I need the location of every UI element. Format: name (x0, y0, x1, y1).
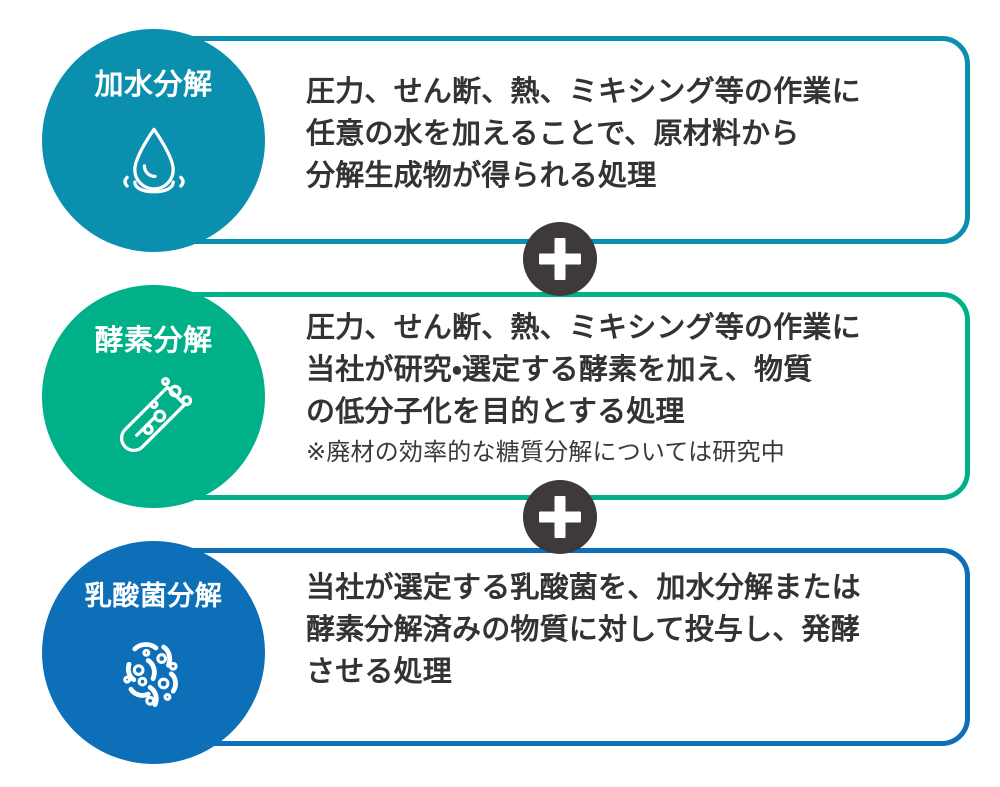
water-drop-icon (106, 114, 202, 210)
step-description-lactic: 当社が選定する乳酸菌を、加水分解または 酵素分解済みの物質に対して投与し、発酵 … (306, 568, 861, 693)
plus-connector-icon (523, 222, 597, 296)
test-tube-icon (106, 370, 202, 466)
description-line: させる処理 (306, 652, 861, 694)
step-description-enzyme: 圧力、せん断、熱、ミキシング等の作業に 当社が研究・選定する酵素を加え、物質 の… (306, 308, 861, 468)
step-badge-enzyme: 酵素分解 (42, 285, 265, 508)
description-line: 圧力、せん断、熱、ミキシング等の作業に (306, 72, 861, 114)
bacteria-icon (106, 624, 202, 720)
step-badge-label: 加水分解 (94, 71, 212, 100)
step-badge-hydrolysis: 加水分解 (42, 29, 265, 252)
step-badge-label: 酵素分解 (94, 327, 212, 356)
description-line: 分解生成物が得られる処理 (306, 156, 861, 198)
description-line: 当社が研究・選定する酵素を加え、物質 (306, 350, 861, 392)
description-line: 任意の水を加えることで、原材料から (306, 114, 861, 156)
step-badge-label: 乳酸菌分解 (85, 583, 223, 610)
diagram-canvas: 圧力、せん断、熱、ミキシング等の作業に 任意の水を加えることで、原材料から 分解… (0, 0, 1000, 787)
step-footnote: ※廃材の効率的な糖質分解については研究中 (306, 437, 861, 468)
description-line: の低分子化を目的とする処理 (306, 392, 861, 434)
description-line: 酵素分解済みの物質に対して投与し、発酵 (306, 610, 861, 652)
description-line: 圧力、せん断、熱、ミキシング等の作業に (306, 308, 861, 350)
step-badge-lactic: 乳酸菌分解 (42, 541, 265, 764)
plus-connector-icon (523, 480, 597, 554)
description-line: 当社が選定する乳酸菌を、加水分解または (306, 568, 861, 610)
step-description-hydrolysis: 圧力、せん断、熱、ミキシング等の作業に 任意の水を加えることで、原材料から 分解… (306, 72, 861, 197)
